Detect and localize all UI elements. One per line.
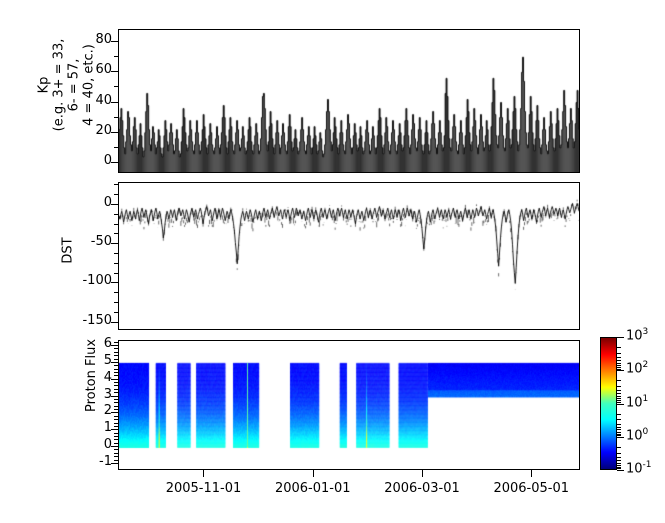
axis-tick-mark — [617, 437, 624, 438]
axis-tick-label: 1 — [76, 420, 112, 435]
colorbar-exponent: -1 — [643, 460, 652, 470]
colorbar-exponent: 0 — [643, 427, 649, 437]
axis-tick-mark — [111, 463, 118, 464]
y-axis-label-line: (e.g. 3+ = 33, — [51, 38, 66, 131]
axis-tick-mark — [114, 419, 118, 420]
colorbar-mantissa: 10 — [626, 461, 643, 476]
axis-tick-mark — [114, 453, 118, 454]
axis-tick-mark — [114, 369, 118, 370]
colorbar-tick-label: 100 — [626, 427, 648, 443]
axis-tick-mark — [114, 375, 118, 376]
axis-tick-mark — [111, 102, 118, 103]
axis-tick-mark — [114, 406, 118, 407]
axis-tick-mark — [114, 460, 118, 461]
axis-tick-mark — [617, 404, 624, 405]
axis-tick-label: 0 — [72, 153, 112, 168]
axis-tick-mark — [617, 390, 621, 391]
panel-proton-flux — [118, 340, 580, 470]
axis-tick-mark — [114, 184, 118, 185]
axis-tick-mark — [617, 429, 621, 430]
y-axis-label-line: 4 = 40, etc.) — [81, 38, 96, 131]
axis-tick-mark — [203, 470, 204, 477]
axis-tick-mark — [111, 429, 118, 430]
proton-flux-axis-title: Proton Flux — [84, 339, 99, 412]
axis-tick-mark — [617, 380, 621, 381]
colorbar-mantissa: 10 — [626, 428, 643, 443]
axis-tick-mark — [617, 365, 621, 366]
axis-tick-mark — [111, 379, 118, 380]
axis-tick-mark — [114, 117, 118, 118]
axis-tick-label: 0 — [76, 437, 112, 452]
axis-tick-mark — [617, 347, 621, 348]
axis-tick-mark — [617, 393, 621, 394]
axis-tick-mark — [114, 355, 118, 356]
axis-tick-mark — [111, 41, 118, 42]
axis-tick-mark — [114, 423, 118, 424]
axis-tick-mark — [114, 243, 118, 244]
axis-tick-mark — [114, 399, 118, 400]
axis-tick-mark — [114, 433, 118, 434]
axis-tick-mark — [617, 470, 624, 471]
axis-tick-mark — [617, 453, 621, 454]
axis-tick-mark — [114, 292, 118, 293]
y-axis-label-line: Kp — [36, 38, 51, 131]
axis-tick-mark — [114, 342, 118, 343]
y-axis-label-line: Proton Flux — [84, 339, 99, 412]
axis-tick-mark — [617, 419, 621, 420]
axis-tick-mark — [114, 389, 118, 390]
axis-tick-mark — [617, 465, 621, 466]
axis-tick-mark — [114, 409, 118, 410]
axis-tick-mark — [617, 386, 621, 387]
x-axis-tick-label: 2005-11-01 — [148, 481, 258, 496]
axis-tick-mark — [114, 273, 118, 274]
axis-tick-mark — [617, 337, 624, 338]
colorbar-gradient — [600, 337, 617, 470]
colorbar-mantissa: 10 — [626, 395, 643, 410]
axis-tick-mark — [617, 367, 621, 368]
axis-tick-mark — [111, 322, 118, 323]
axis-tick-mark — [114, 194, 118, 195]
axis-tick-mark — [114, 263, 118, 264]
axis-tick-mark — [617, 435, 621, 436]
colorbar-exponent: 1 — [643, 394, 649, 404]
axis-tick-mark — [114, 416, 118, 417]
colorbar-tick-label: 10-1 — [626, 460, 652, 476]
axis-tick-label: -1 — [76, 454, 112, 469]
axis-tick-label: -50 — [72, 234, 112, 249]
axis-tick-mark — [114, 359, 118, 360]
axis-tick-mark — [617, 360, 621, 361]
axis-tick-mark — [114, 402, 118, 403]
colorbar-tick-label: 103 — [626, 327, 648, 343]
axis-tick-mark — [617, 398, 621, 399]
axis-tick-mark — [114, 392, 118, 393]
axis-tick-mark — [114, 365, 118, 366]
axis-tick-mark — [111, 362, 118, 363]
colorbar-exponent: 3 — [643, 327, 649, 337]
axis-tick-mark — [114, 385, 118, 386]
axis-tick-mark — [617, 402, 621, 403]
axis-tick-mark — [114, 204, 118, 205]
axis-tick-mark — [111, 446, 118, 447]
axis-tick-mark — [617, 432, 621, 433]
y-axis-label-line: 6- = 57, — [66, 38, 81, 131]
axis-tick-mark — [111, 345, 118, 346]
axis-tick-mark — [114, 253, 118, 254]
axis-tick-mark — [617, 396, 621, 397]
dst-axis-title: DST — [60, 237, 75, 263]
colorbar-mantissa: 10 — [626, 362, 643, 377]
colorbar-tick-label: 102 — [626, 360, 648, 376]
x-axis-tick-label: 2006-01-01 — [258, 481, 368, 496]
colorbar-exponent: 2 — [643, 360, 649, 370]
figure-canvas: 020406080 Kp(e.g. 3+ = 33,6- = 57,4 = 40… — [0, 0, 665, 523]
axis-tick-mark — [111, 162, 118, 163]
axis-tick-mark — [422, 470, 423, 477]
axis-tick-mark — [617, 427, 621, 428]
dst-plot-canvas — [119, 183, 579, 329]
axis-tick-mark — [617, 414, 621, 415]
axis-tick-mark — [617, 370, 624, 371]
axis-tick-label: 0 — [72, 195, 112, 210]
colorbar-mantissa: 10 — [626, 328, 643, 343]
axis-tick-mark — [617, 353, 621, 354]
axis-tick-mark — [114, 426, 118, 427]
axis-tick-mark — [617, 468, 621, 469]
colorbar-tick-label: 101 — [626, 394, 648, 410]
panel-kp — [118, 29, 580, 173]
axis-tick-mark — [114, 312, 118, 313]
axis-tick-mark — [114, 56, 118, 57]
axis-tick-mark — [617, 424, 621, 425]
kp-axis-title: Kp(e.g. 3+ = 33,6- = 57,4 = 40, etc.) — [36, 38, 96, 131]
axis-tick-mark — [111, 132, 118, 133]
axis-tick-mark — [531, 470, 532, 477]
axis-tick-mark — [114, 282, 118, 283]
axis-tick-mark — [114, 86, 118, 87]
proton-flux-spectrogram-canvas — [119, 341, 579, 469]
axis-tick-mark — [617, 457, 621, 458]
axis-tick-mark — [114, 352, 118, 353]
panel-dst — [118, 182, 580, 330]
axis-tick-mark — [111, 71, 118, 72]
axis-tick-label: -150 — [72, 313, 112, 328]
axis-tick-mark — [114, 302, 118, 303]
axis-tick-mark — [617, 400, 621, 401]
axis-tick-mark — [617, 447, 621, 448]
axis-tick-mark — [114, 233, 118, 234]
axis-tick-mark — [114, 224, 118, 225]
axis-tick-mark — [114, 456, 118, 457]
axis-tick-mark — [114, 449, 118, 450]
axis-tick-mark — [111, 412, 118, 413]
axis-tick-mark — [111, 396, 118, 397]
axis-tick-mark — [617, 460, 621, 461]
axis-tick-label: -100 — [72, 273, 112, 288]
x-axis-tick-label: 2006-03-01 — [367, 481, 477, 496]
axis-tick-mark — [114, 348, 118, 349]
kp-plot-canvas — [119, 30, 579, 172]
axis-tick-mark — [114, 439, 118, 440]
axis-tick-mark — [313, 470, 314, 477]
axis-tick-mark — [114, 382, 118, 383]
axis-tick-mark — [114, 443, 118, 444]
y-axis-label-line: DST — [60, 237, 75, 263]
axis-tick-mark — [114, 372, 118, 373]
axis-tick-mark — [617, 363, 621, 364]
axis-tick-mark — [114, 436, 118, 437]
axis-tick-mark — [617, 463, 621, 464]
x-axis-tick-label: 2006-05-01 — [476, 481, 586, 496]
axis-tick-mark — [617, 357, 621, 358]
axis-tick-mark — [114, 214, 118, 215]
axis-tick-mark — [114, 147, 118, 148]
